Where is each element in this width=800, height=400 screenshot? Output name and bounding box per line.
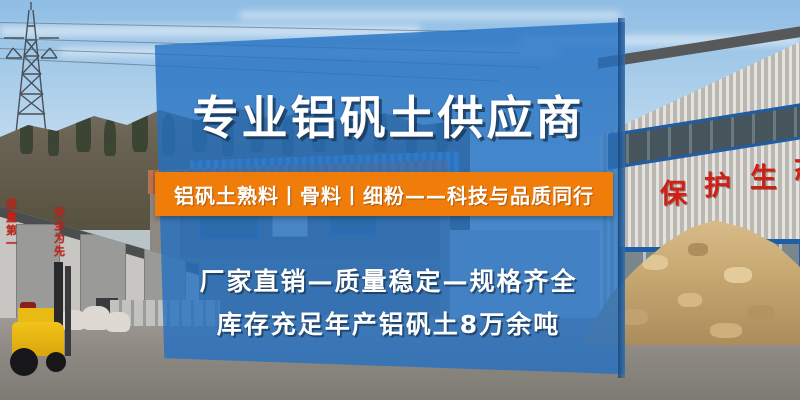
subtitle-line-1: 厂家直销—质量稳定—规格齐全 [152, 262, 625, 298]
subtitle-line-2: 库存充足年产铝矾土8万余吨 [152, 305, 625, 341]
highlight-banner-text: 铝矾土熟料丨骨料丨细粉——科技与品质同行 [155, 172, 613, 216]
highlight-banner: 铝矾土熟料丨骨料丨细粉——科技与品质同行 [155, 172, 613, 216]
page-title: 专业铝矾土供应商 [152, 82, 625, 148]
promo-banner: 质 量 第 一 安 全 为 先 保 护 生 态 [0, 0, 800, 400]
